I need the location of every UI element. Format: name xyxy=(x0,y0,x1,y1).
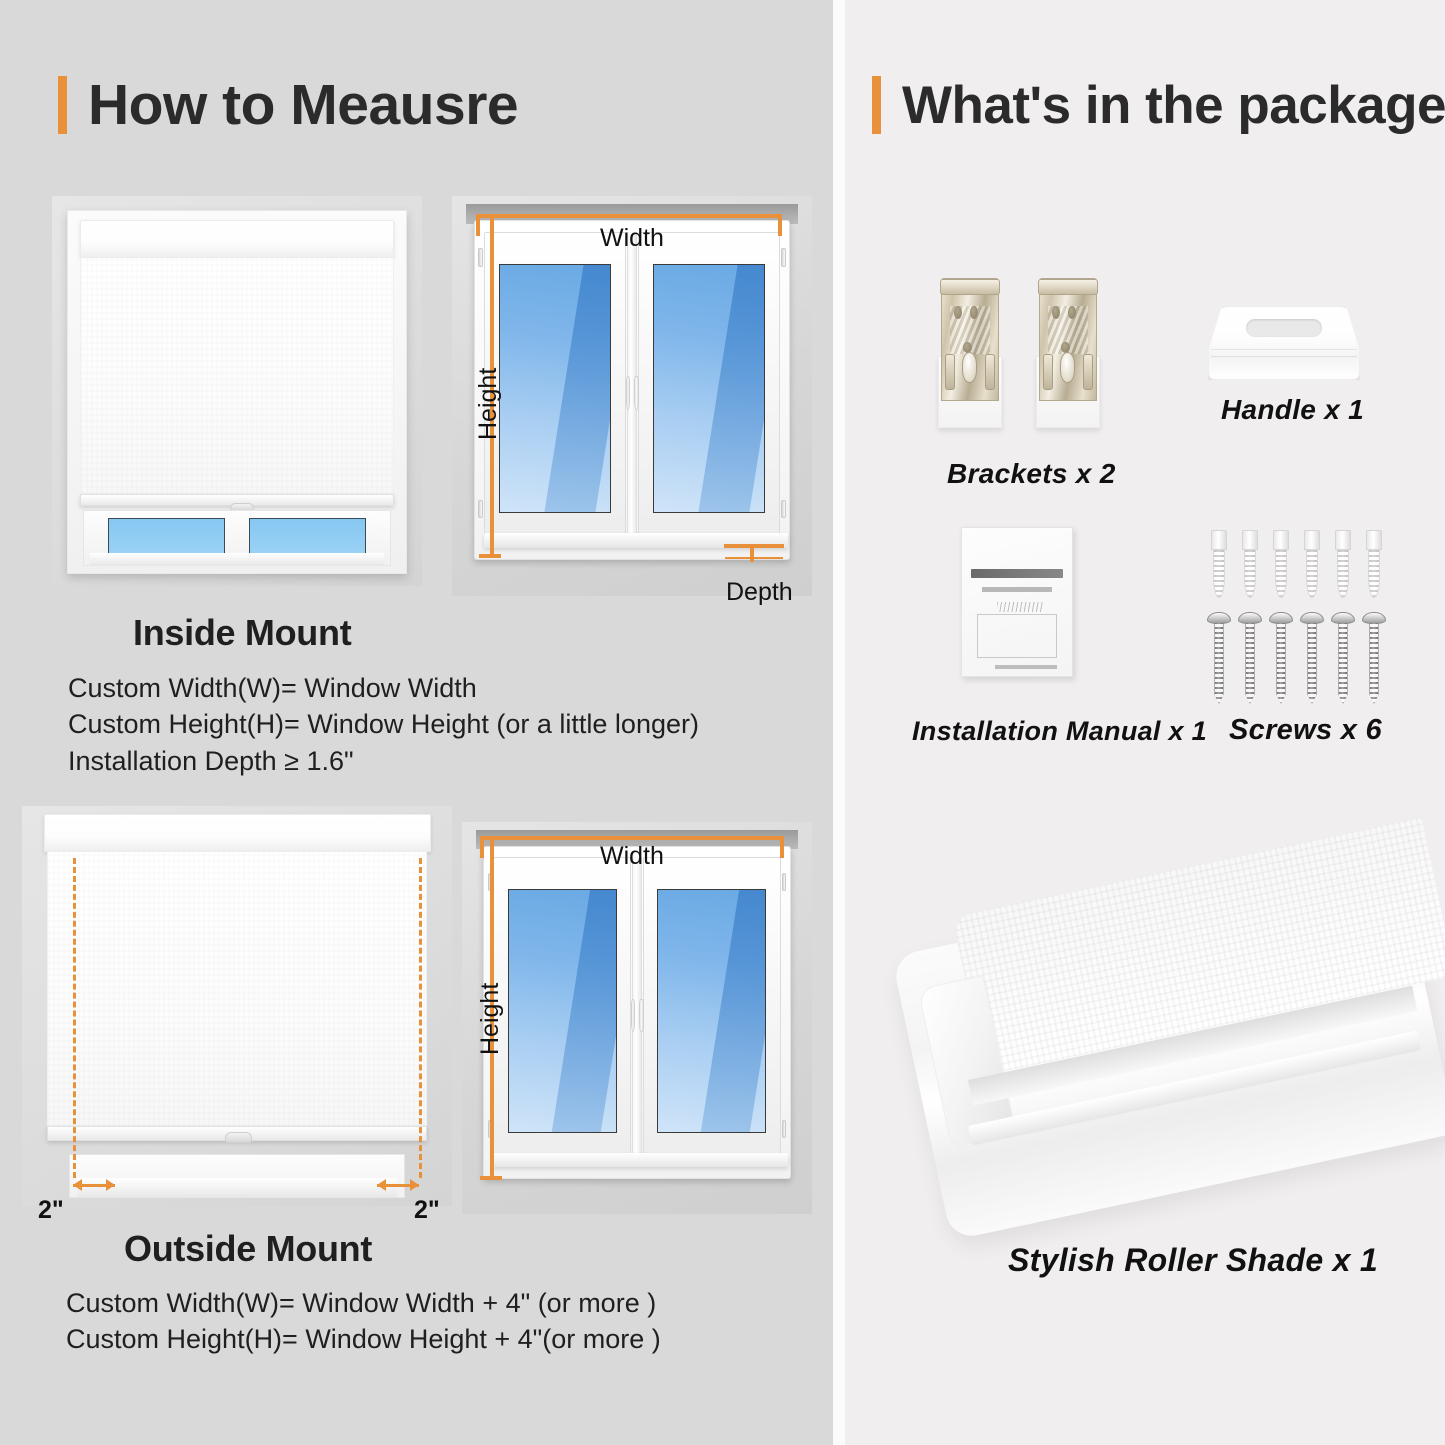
width-dimension-cap xyxy=(480,836,484,858)
width-dimension-cap xyxy=(476,214,480,236)
screw-icon xyxy=(1334,612,1352,704)
screw-icon xyxy=(1272,612,1290,704)
overhang-right-label: 2" xyxy=(414,1196,440,1225)
manual-illustration-box xyxy=(977,614,1056,658)
window-frame xyxy=(67,210,407,575)
accent-bar-icon xyxy=(872,76,881,134)
how-to-measure-heading-text: How to Meausre xyxy=(88,77,518,134)
inside-mount-shade-illustration xyxy=(52,196,422,586)
brackets-caption: Brackets x 2 xyxy=(947,458,1116,490)
window-hinge xyxy=(781,248,785,267)
window-hinge xyxy=(478,500,482,519)
infographic-page: How to Meausre xyxy=(0,0,1445,1445)
anchor-icon xyxy=(1333,530,1353,598)
height-label: Height xyxy=(474,368,503,440)
shade-fabric xyxy=(47,852,426,1127)
glass-glare xyxy=(541,264,611,513)
overhang-left-label: 2" xyxy=(38,1196,64,1225)
outside-mount-measure-window xyxy=(462,822,812,1214)
inside-mount-line-2: Custom Height(H)= Window Height (or a li… xyxy=(68,706,699,742)
shade-fabric xyxy=(80,258,395,494)
overhang-arrow-right xyxy=(377,1184,419,1187)
accent-bar-icon xyxy=(58,76,67,134)
width-dimension-cap xyxy=(778,214,782,236)
width-label: Width xyxy=(600,224,664,253)
manual-footer-bar xyxy=(995,665,1057,669)
package-heading: What's in the package xyxy=(872,76,1445,134)
window-handles xyxy=(624,376,640,410)
roller-shade-caption: Stylish Roller Shade x 1 xyxy=(1008,1242,1378,1279)
screw-icon xyxy=(1303,612,1321,704)
roller-shade-icon xyxy=(916,900,1432,1190)
height-dimension-cap xyxy=(479,554,501,558)
package-heading-text: What's in the package xyxy=(902,79,1445,132)
window-glass-left xyxy=(508,889,617,1133)
manual-scribble xyxy=(997,602,1043,612)
shade-pull-handle xyxy=(225,1132,252,1143)
anchor-icon xyxy=(1209,530,1229,598)
inside-mount-text: Custom Width(W)= Window Width Custom Hei… xyxy=(68,670,699,779)
anchor-icon xyxy=(1364,530,1384,598)
depth-dimension-marker xyxy=(724,544,784,548)
lower-window-section xyxy=(83,510,391,566)
window-glass-right xyxy=(657,889,766,1133)
window-hinge xyxy=(782,1120,786,1138)
anchor-icon xyxy=(1240,530,1260,598)
window-sash-right xyxy=(643,857,781,1164)
glass-glare xyxy=(695,264,765,513)
window-glass-right xyxy=(653,264,765,513)
outside-mounted-shade xyxy=(44,814,431,1190)
glass-glare xyxy=(698,889,766,1133)
handle-caption: Handle x 1 xyxy=(1221,394,1364,426)
window-frame xyxy=(483,846,791,1179)
handle-icon xyxy=(1208,306,1360,380)
shade-cassette xyxy=(44,814,431,852)
lower-sill xyxy=(77,1178,397,1197)
window-sash-left xyxy=(493,857,631,1164)
window-sash-right xyxy=(638,232,780,546)
lower-glass-left xyxy=(108,518,224,557)
overhang-guide-right xyxy=(419,858,422,1178)
window-hinge xyxy=(478,248,482,267)
width-label: Width xyxy=(600,842,664,871)
panel-divider xyxy=(833,0,845,1445)
inside-mount-line-1: Custom Width(W)= Window Width xyxy=(68,670,699,706)
window-sill xyxy=(493,1153,788,1168)
width-dimension-line xyxy=(476,214,782,218)
glass-glare xyxy=(549,889,617,1133)
window-frame xyxy=(474,220,791,560)
bracket-icon xyxy=(1036,278,1100,428)
anchor-icon xyxy=(1271,530,1291,598)
window-hinge xyxy=(782,873,786,891)
depth-label: Depth xyxy=(726,578,793,607)
inside-mount-measure-window xyxy=(452,196,812,596)
outside-mount-text: Custom Width(W)= Window Width + 4" (or m… xyxy=(66,1285,661,1358)
bracket-icon xyxy=(938,278,1002,428)
window-handles xyxy=(630,999,645,1032)
inside-mount-line-3: Installation Depth ≥ 1.6" xyxy=(68,743,699,779)
how-to-measure-heading: How to Meausre xyxy=(58,76,518,134)
manual-subtitle-bar xyxy=(982,587,1052,592)
outside-mount-line-2: Custom Height(H)= Window Height + 4"(or … xyxy=(66,1321,661,1357)
window-sash-left xyxy=(484,232,626,546)
lower-glass-right xyxy=(249,518,365,557)
depth-dimension-stem xyxy=(750,546,754,562)
height-label: Height xyxy=(476,983,505,1055)
manual-title-bar xyxy=(971,569,1063,578)
window-behind-shade xyxy=(69,1154,404,1198)
outside-mount-shade-illustration xyxy=(22,806,452,1206)
outside-mount-line-1: Custom Width(W)= Window Width + 4" (or m… xyxy=(66,1285,661,1321)
anchor-icon xyxy=(1302,530,1322,598)
lower-sill xyxy=(90,553,384,565)
width-dimension-line xyxy=(480,836,784,840)
screw-icon xyxy=(1241,612,1259,704)
screw-icon xyxy=(1365,612,1383,704)
window-glass-left xyxy=(499,264,611,513)
screw-icon xyxy=(1210,612,1228,704)
screws-caption: Screws x 6 xyxy=(1229,714,1382,747)
shade-cassette xyxy=(80,220,395,258)
height-dimension-cap xyxy=(480,1176,502,1180)
manual-icon xyxy=(961,527,1073,677)
inside-mount-title: Inside Mount xyxy=(133,612,351,654)
outside-mount-title: Outside Mount xyxy=(124,1228,372,1270)
manual-caption: Installation Manual x 1 xyxy=(912,716,1207,747)
overhang-arrow-left xyxy=(73,1184,115,1187)
width-dimension-cap xyxy=(780,836,784,858)
window-hinge xyxy=(781,500,785,519)
overhang-guide-left xyxy=(73,858,76,1178)
